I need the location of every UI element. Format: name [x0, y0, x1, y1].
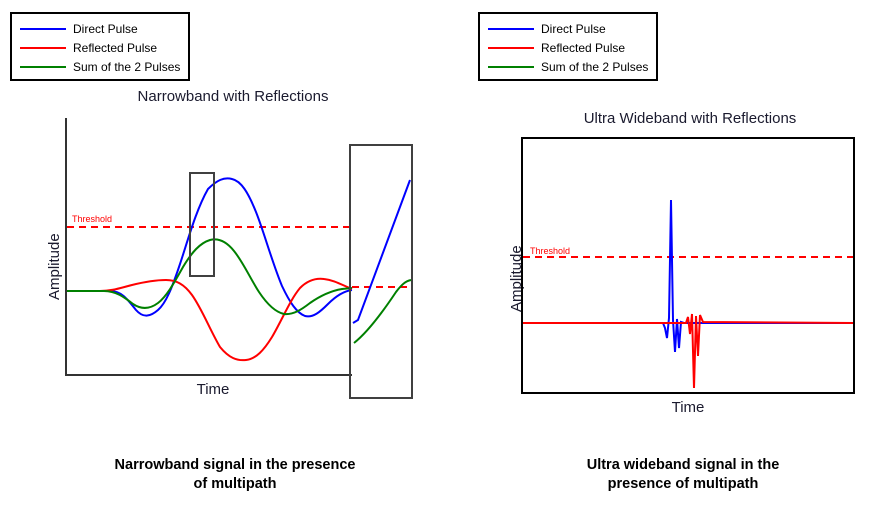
caption-right-line1: Ultra wideband signal in the [513, 456, 853, 475]
callout-curve-sum [354, 280, 411, 343]
plot-narrowband [0, 0, 440, 420]
curve-direct-left [67, 178, 352, 316]
callout-box-left [350, 145, 412, 398]
curve-reflected-right [523, 314, 853, 388]
plot-uwb [460, 0, 875, 420]
plot-frame-right [522, 138, 854, 393]
threshold-label-left: Threshold [72, 214, 112, 224]
caption-right-line2: presence of multipath [513, 475, 853, 494]
curve-direct-right [523, 200, 853, 352]
caption-left: Narrowband signal in the presence of mul… [60, 456, 410, 494]
caption-right: Ultra wideband signal in the presence of… [513, 456, 853, 494]
caption-left-line1: Narrowband signal in the presence [60, 456, 410, 475]
threshold-label-right: Threshold [530, 246, 570, 256]
callout-curve-direct [353, 180, 410, 323]
caption-left-line2: of multipath [60, 475, 410, 494]
